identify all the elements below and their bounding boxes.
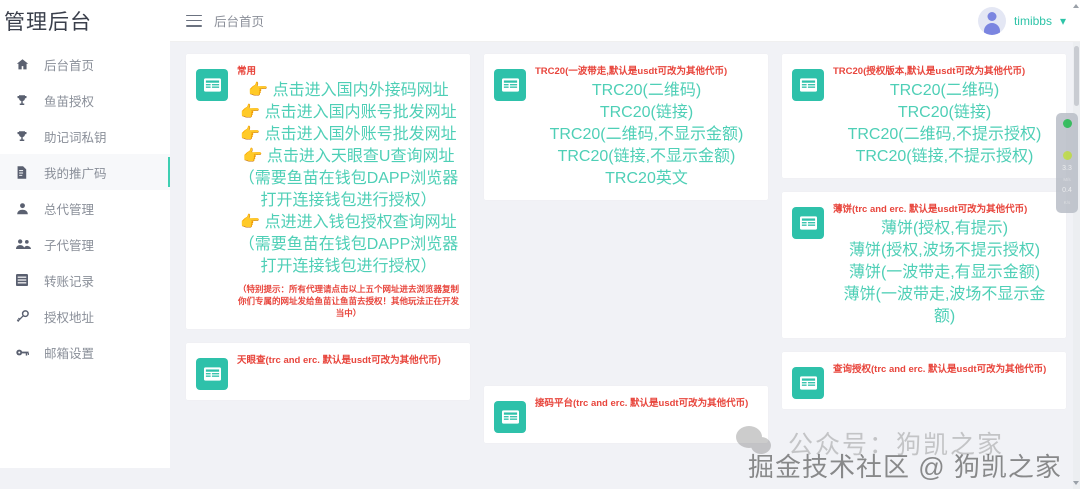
card-link[interactable]: 薄饼(授权,有提示) <box>833 218 1056 240</box>
status-dot-green <box>1063 119 1072 128</box>
card-column-1: 常用 👉 点击进入国内外接码网址 👉 点击进入国内账号批发网址 👉 点击进入国外… <box>186 54 470 400</box>
username-label: timibbs <box>1014 14 1052 28</box>
card-body: 薄饼(trc and erc. 默认是usdt可改为其他代币) 薄饼(授权,有提… <box>833 204 1056 328</box>
avatar <box>978 7 1006 35</box>
vertical-scrollbar-thumb[interactable] <box>1074 46 1079 106</box>
card-link[interactable]: TRC20(链接,不提示授权) <box>833 146 1056 168</box>
key-icon <box>16 345 34 359</box>
card-links: 薄饼(授权,有提示) 薄饼(授权,波场不提示授权) 薄饼(一波带走,有显示金额)… <box>833 218 1056 328</box>
card-link[interactable]: TRC20(二维码) <box>535 80 758 102</box>
list-icon <box>16 273 34 287</box>
card-header: TRC20(一波带走,默认是usdt可改为其他代币) <box>535 66 758 79</box>
card-link[interactable]: 👉 点击进入国内外接码网址 <box>237 80 460 102</box>
card-link[interactable]: TRC20(二维码,不显示金额) <box>535 124 758 146</box>
card-links: TRC20(二维码) TRC20(链接) TRC20(二维码,不提示授权) TR… <box>833 80 1056 168</box>
card-trc20-onepass: TRC20(一波带走,默认是usdt可改为其他代币) TRC20(二维码) TR… <box>484 54 768 200</box>
card-link[interactable]: （需要鱼苗在钱包DAPP浏览器打开连接钱包进行授权） <box>237 234 460 278</box>
breadcrumb: 后台首页 <box>214 11 264 30</box>
trophy-icon <box>16 129 34 143</box>
card-header: 薄饼(trc and erc. 默认是usdt可改为其他代币) <box>833 204 1056 217</box>
card-body: 常用 👉 点击进入国内外接码网址 👉 点击进入国内账号批发网址 👉 点击进入国外… <box>237 66 460 319</box>
card-link[interactable]: TRC20(链接,不显示金额) <box>535 146 758 168</box>
card-body: TRC20(授权版本,默认是usdt可改为其他代币) TRC20(二维码) TR… <box>833 66 1056 168</box>
card-link[interactable]: 薄饼(一波带走,有显示金额) <box>833 262 1056 284</box>
sidebar-item-agent-admin[interactable]: 总代管理 <box>0 190 170 226</box>
content-panel: 常用 👉 点击进入国内外接码网址 👉 点击进入国内账号批发网址 👉 点击进入国外… <box>170 42 1080 489</box>
topbar: 后台首页 timibbs ▾ <box>170 0 1080 42</box>
card-query-auth: 查询授权(trc and erc. 默认是usdt可改为其他代币) <box>782 352 1066 409</box>
main-area: 后台首页 timibbs ▾ 常用 <box>170 0 1080 489</box>
user-icon <box>16 201 34 215</box>
file-icon <box>16 165 34 179</box>
card-list-icon <box>494 401 526 433</box>
card-link[interactable]: TRC20(链接) <box>535 102 758 124</box>
key-icon <box>16 309 34 323</box>
upload-speed-value: 3.3 <box>1062 165 1072 172</box>
card-body: 查询授权(trc and erc. 默认是usdt可改为其他代币) <box>833 364 1056 399</box>
card-column-3: TRC20(授权版本,默认是usdt可改为其他代币) TRC20(二维码) TR… <box>782 54 1066 409</box>
card-link[interactable]: TRC20英文 <box>535 168 758 190</box>
card-link[interactable]: TRC20(链接) <box>833 102 1056 124</box>
card-header: 接码平台(trc and erc. 默认是usdt可改为其他代币) <box>535 398 758 411</box>
card-link[interactable]: TRC20(二维码,不提示授权) <box>833 124 1056 146</box>
download-speed-unit: K/s <box>1064 200 1071 205</box>
sidebar-item-fish-auth[interactable]: 鱼苗授权 <box>0 82 170 118</box>
sidebar-item-my-promo-code[interactable]: 我的推广码 <box>0 154 170 190</box>
sidebar-item-label: 转账记录 <box>44 271 94 290</box>
active-indicator <box>168 157 170 187</box>
card-link[interactable]: 薄饼(授权,波场不提示授权) <box>833 240 1056 262</box>
card-header: TRC20(授权版本,默认是usdt可改为其他代币) <box>833 66 1056 79</box>
sidebar-brand: 管理后台 <box>0 2 170 46</box>
status-dot-yellow <box>1063 151 1072 160</box>
card-link[interactable]: 👉 点击进入天眼查U查询网址 <box>237 146 460 168</box>
vertical-scrollbar-track[interactable] <box>1073 42 1080 489</box>
sidebar-item-label: 我的推广码 <box>44 163 107 182</box>
card-footnote: （特别提示：所有代理请点击以上五个网址进去浏览器复制你们专属的网址发给鱼苗让鱼苗… <box>237 283 460 319</box>
sidebar-item-label: 助记词私钥 <box>44 127 107 146</box>
chevron-down-icon: ▾ <box>1060 14 1066 28</box>
card-list-icon <box>792 367 824 399</box>
sidebar: 管理后台 后台首页 鱼苗授权 助记词私钥 <box>0 0 170 468</box>
card-body: 接码平台(trc and erc. 默认是usdt可改为其他代币) <box>535 398 758 433</box>
scroll-up-icon[interactable] <box>1073 4 1079 8</box>
upload-speed-unit: M/s <box>1063 177 1070 182</box>
card-links: 👉 点击进入国内外接码网址 👉 点击进入国内账号批发网址 👉 点击进入国外账号批… <box>237 80 460 279</box>
card-grid: 常用 👉 点击进入国内外接码网址 👉 点击进入国内账号批发网址 👉 点击进入国外… <box>186 54 1066 443</box>
user-menu[interactable]: timibbs ▾ <box>978 7 1066 35</box>
sidebar-item-sub-agent-admin[interactable]: 子代管理 <box>0 226 170 262</box>
card-link[interactable]: 薄饼(一波带走,波场不显示金额) <box>833 284 1056 328</box>
sidebar-item-label: 鱼苗授权 <box>44 91 94 110</box>
card-column-2: TRC20(一波带走,默认是usdt可改为其他代币) TRC20(二维码) TR… <box>484 54 768 443</box>
download-speed-value: 0.4 <box>1062 187 1072 194</box>
sidebar-item-label: 授权地址 <box>44 307 94 326</box>
card-list-icon <box>494 69 526 101</box>
card-link[interactable]: 👉 点击进入国内账号批发网址 <box>237 102 460 124</box>
sidebar-item-home[interactable]: 后台首页 <box>0 46 170 82</box>
card-link[interactable]: 👉 点进进入钱包授权查询网址 <box>237 212 460 234</box>
scroll-down-icon[interactable] <box>1073 481 1079 485</box>
card-list-icon <box>196 69 228 101</box>
sidebar-item-email-settings[interactable]: 邮箱设置 <box>0 334 170 370</box>
card-tianyancha: 天眼查(trc and erc. 默认是usdt可改为其他代币) <box>186 343 470 400</box>
card-common: 常用 👉 点击进入国内外接码网址 👉 点击进入国内账号批发网址 👉 点击进入国外… <box>186 54 470 329</box>
users-icon <box>16 237 34 251</box>
card-links: TRC20(二维码) TRC20(链接) TRC20(二维码,不显示金额) TR… <box>535 80 758 190</box>
card-header: 常用 <box>237 66 460 79</box>
sidebar-item-mnemonic-key[interactable]: 助记词私钥 <box>0 118 170 154</box>
card-link[interactable]: TRC20(二维码) <box>833 80 1056 102</box>
sidebar-item-label: 总代管理 <box>44 199 94 218</box>
card-list-icon <box>792 207 824 239</box>
admin-dashboard: 管理后台 后台首页 鱼苗授权 助记词私钥 <box>0 0 1080 489</box>
home-icon <box>16 57 34 71</box>
network-speed-widget[interactable]: 3.3 M/s 0.4 K/s <box>1056 113 1078 213</box>
hamburger-icon[interactable] <box>186 15 202 27</box>
sidebar-item-label: 子代管理 <box>44 235 94 254</box>
card-jiema: 接码平台(trc and erc. 默认是usdt可改为其他代币) <box>484 386 768 443</box>
sidebar-item-label: 邮箱设置 <box>44 343 94 362</box>
card-body: TRC20(一波带走,默认是usdt可改为其他代币) TRC20(二维码) TR… <box>535 66 758 190</box>
card-link[interactable]: （需要鱼苗在钱包DAPP浏览器打开连接钱包进行授权） <box>237 168 460 212</box>
card-list-icon <box>792 69 824 101</box>
card-header: 天眼查(trc and erc. 默认是usdt可改为其他代币) <box>237 355 460 368</box>
sidebar-item-auth-address[interactable]: 授权地址 <box>0 298 170 334</box>
card-body: 天眼查(trc and erc. 默认是usdt可改为其他代币) <box>237 355 460 390</box>
sidebar-item-transfer-records[interactable]: 转账记录 <box>0 262 170 298</box>
sidebar-item-label: 后台首页 <box>44 55 94 74</box>
card-link[interactable]: 👉 点击进入国外账号批发网址 <box>237 124 460 146</box>
card-trc20-auth: TRC20(授权版本,默认是usdt可改为其他代币) TRC20(二维码) TR… <box>782 54 1066 178</box>
card-header: 查询授权(trc and erc. 默认是usdt可改为其他代币) <box>833 364 1056 377</box>
trophy-icon <box>16 93 34 107</box>
card-list-icon <box>196 358 228 390</box>
card-pancake: 薄饼(trc and erc. 默认是usdt可改为其他代币) 薄饼(授权,有提… <box>782 192 1066 338</box>
sidebar-nav: 后台首页 鱼苗授权 助记词私钥 我的推广码 <box>0 46 170 370</box>
